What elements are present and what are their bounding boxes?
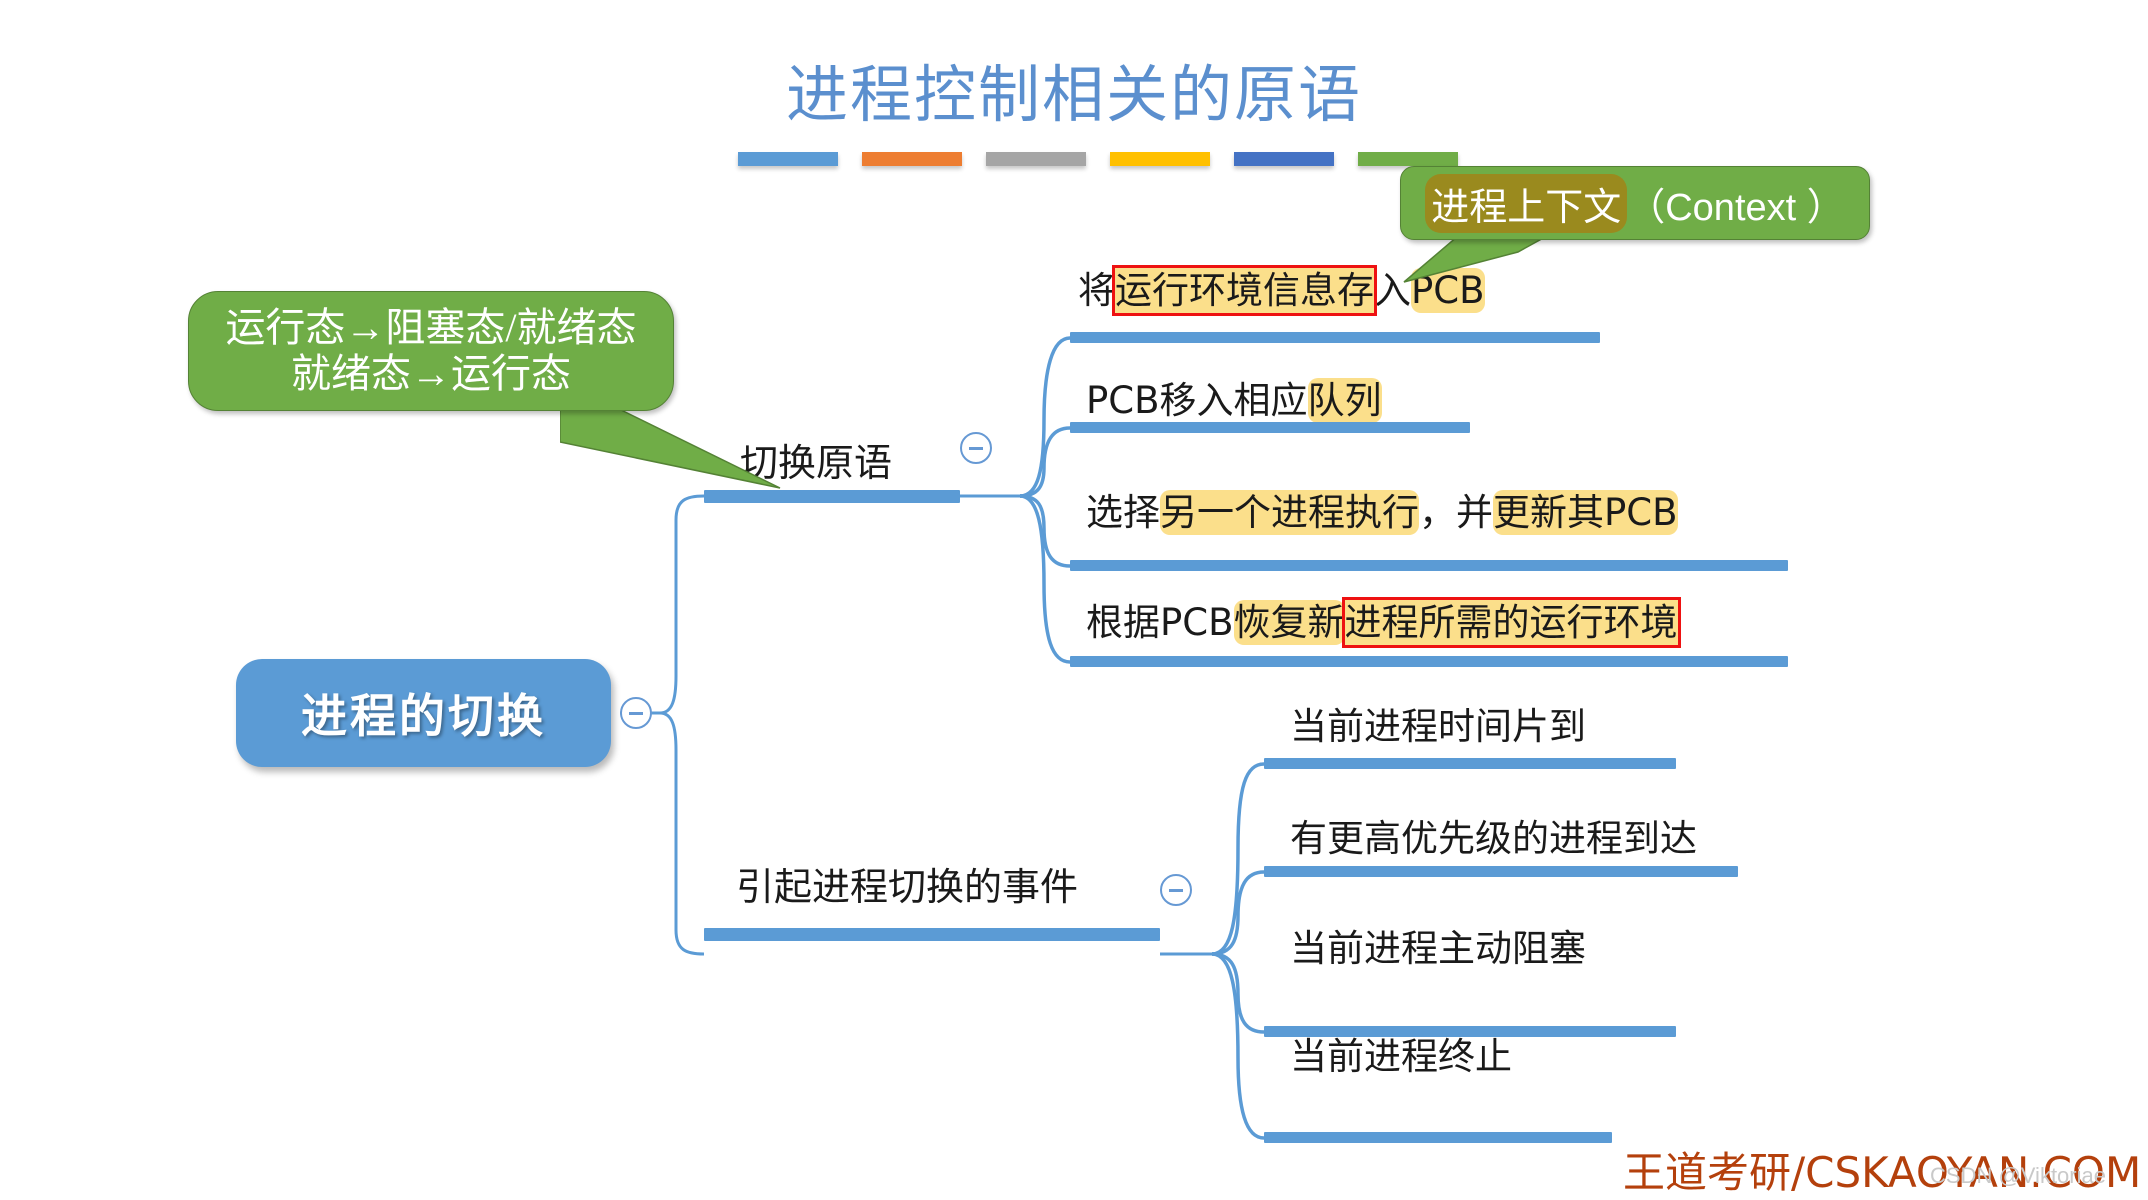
color-bar-strip [738,152,1458,166]
collapse-toggle-switch-events[interactable] [1160,874,1192,906]
run-highlight: 队列 [1308,378,1382,423]
run-plain: 根据PCB [1086,601,1234,644]
page-title: 进程控制相关的原语 [0,44,2148,134]
callout-state-line-2: 就绪态→运行态 [291,351,571,397]
leaf-terminate-label[interactable]: 当前进程终止 [1290,1038,1512,1075]
collapse-toggle-switch-primitive[interactable] [960,432,992,464]
bar-orange [862,152,962,166]
branch-underline-switch-events [704,928,1160,941]
run-plain-2: 入 [1374,269,1411,312]
branch-underline-switch-primitive [704,490,960,503]
leaf-save-env-label[interactable]: 将运行环境信息存入PCB [1078,272,1485,309]
bar-blue-light [738,152,838,166]
callout-context-rest: （Context ） [1627,176,1845,231]
bar-green [1358,152,1458,166]
mindmap-root-node[interactable]: 进程的切换 [236,659,611,767]
leaf-block-label[interactable]: 当前进程主动阻塞 [1290,930,1586,967]
run-plain-2: ，并 [1419,491,1493,534]
bar-blue-dark [1234,152,1334,166]
run-redbox-highlight: 进程所需的运行环境 [1345,600,1678,645]
leaf-select-process-label[interactable]: 选择另一个进程执行，并更新其PCB [1086,494,1678,531]
leaf-underline-terminate [1264,1132,1612,1143]
leaf-underline-save-env [1070,332,1600,343]
run-plain: PCB移入相应 [1086,379,1308,422]
run-redbox-highlight: 运行环境信息存 [1115,268,1374,313]
leaf-pcb-queue-label[interactable]: PCB移入相应队列 [1086,382,1382,419]
bar-yellow [1110,152,1210,166]
leaf-underline-timeslice [1264,758,1676,769]
csdn-watermark: CSDN @Viktoriae [1930,1163,2106,1189]
root-node-label: 进程的切换 [301,680,546,746]
leaf-underline-restore-env [1070,656,1788,667]
bar-gray [986,152,1086,166]
callout-process-context: 进程上下文（Context ） [1400,166,1870,240]
leaf-underline-pcb-queue [1070,422,1470,433]
leaf-timeslice-label[interactable]: 当前进程时间片到 [1290,708,1586,745]
slide-canvas: 进程控制相关的原语 进程的切换 切换原语 [0,0,2148,1200]
run-highlight-2: 更新其PCB [1493,490,1678,535]
branch-label-switch-events[interactable]: 引起进程切换的事件 [736,868,1078,906]
branch-label-switch-primitive[interactable]: 切换原语 [740,444,892,482]
run-highlight: 恢复新 [1234,600,1345,645]
collapse-toggle-root[interactable] [620,697,652,729]
run-plain: 将 [1078,269,1115,312]
leaf-underline-select-process [1070,560,1788,571]
leaf-priority-label[interactable]: 有更高优先级的进程到达 [1290,820,1697,857]
run-highlight: 另一个进程执行 [1160,490,1419,535]
leaf-underline-priority [1264,866,1738,877]
callout-context-highlight: 进程上下文 [1425,174,1627,233]
run-highlight: PCB [1411,268,1485,313]
callout-state-transition: 运行态→阻塞态/就绪态 就绪态→运行态 [188,291,674,411]
callout-state-line-1: 运行态→阻塞态/就绪态 [225,305,636,351]
run-plain: 选择 [1086,491,1160,534]
leaf-restore-env-label[interactable]: 根据PCB恢复新进程所需的运行环境 [1086,604,1678,641]
